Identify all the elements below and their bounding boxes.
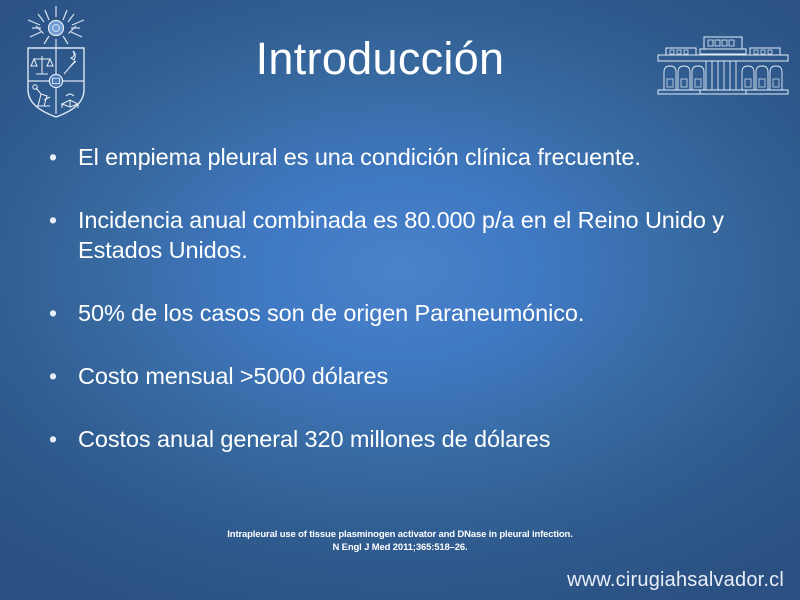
university-of-chile-shield-icon [14,4,98,120]
bullet-text: Incidencia anual combinada es 80.000 p/a… [78,205,726,265]
citation-title: Intrapleural use of tissue plasminogen a… [100,528,700,541]
list-item: • 50% de los casos son de origen Paraneu… [46,298,746,328]
footer-website-url: www.cirugiahsalvador.cl [567,569,784,592]
list-item: • Costos anual general 320 millones de d… [46,424,746,454]
bullet-list: • El empiema pleural es una condición cl… [46,142,746,454]
list-item: • Incidencia anual combinada es 80.000 p… [46,205,746,265]
bullet-text: Costo mensual >5000 dólares [78,361,726,391]
citation-reference: N Engl J Med 2011;365:518–26. [100,541,700,554]
bullet-text: Costos anual general 320 millones de dól… [78,424,726,454]
bullet-text: El empiema pleural es una condición clín… [78,142,726,172]
bullet-text: 50% de los casos son de origen Paraneumó… [78,298,726,328]
bullet-marker-icon: • [46,361,78,391]
slide-canvas: Introducción [0,0,800,600]
list-item: • El empiema pleural es una condición cl… [46,142,746,172]
bullet-marker-icon: • [46,424,78,454]
bullet-marker-icon: • [46,298,78,328]
list-item: • Costo mensual >5000 dólares [46,361,746,391]
slide-title: Introducción [120,34,640,84]
bullet-marker-icon: • [46,142,78,172]
citation-block: Intrapleural use of tissue plasminogen a… [100,528,700,554]
bullet-marker-icon: • [46,205,78,235]
hospital-building-icon [652,32,794,100]
